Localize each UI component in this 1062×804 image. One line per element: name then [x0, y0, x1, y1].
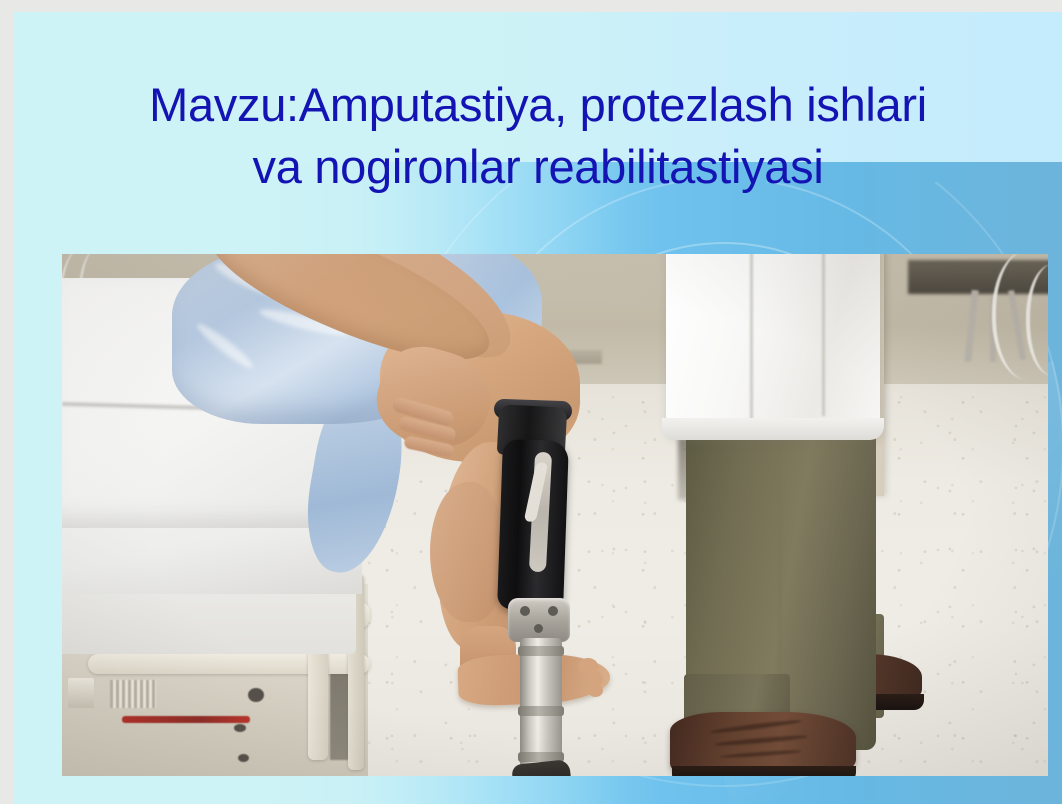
bed-aperture-2: [234, 724, 246, 732]
clinician-white-coat: [666, 254, 880, 436]
slide-title: Mavzu:Amputastiya, protezlash ishlari va…: [14, 74, 1062, 198]
coat-fold-1: [750, 254, 753, 422]
prosthetic-bolt-3: [534, 624, 543, 633]
bed-aperture-3: [238, 754, 249, 762]
clinician-coat-hem: [662, 418, 884, 440]
bed-red-marking: [122, 716, 250, 723]
bed-aperture-1: [248, 688, 264, 702]
slide-photo: [62, 254, 1048, 776]
bed-vent-grill: [110, 680, 156, 708]
prosthetic-pylon: [520, 638, 562, 768]
slide-canvas: Mavzu:Amputastiya, protezlash ishlari va…: [14, 12, 1062, 804]
prosthetic-bolt-2: [548, 606, 558, 616]
patient-toe-3: [588, 684, 603, 697]
prosthetic-pylon-clamp-2: [518, 706, 564, 716]
bed-panel: [68, 678, 94, 708]
coat-fold-2: [822, 254, 825, 416]
clinician-shoe-front-sole: [672, 766, 856, 776]
prosthetic-knee-adapter: [508, 598, 570, 642]
patient-calf: [430, 482, 504, 622]
prosthetic-bolt-1: [520, 606, 530, 616]
prosthetic-pylon-clamp-1: [518, 646, 564, 656]
